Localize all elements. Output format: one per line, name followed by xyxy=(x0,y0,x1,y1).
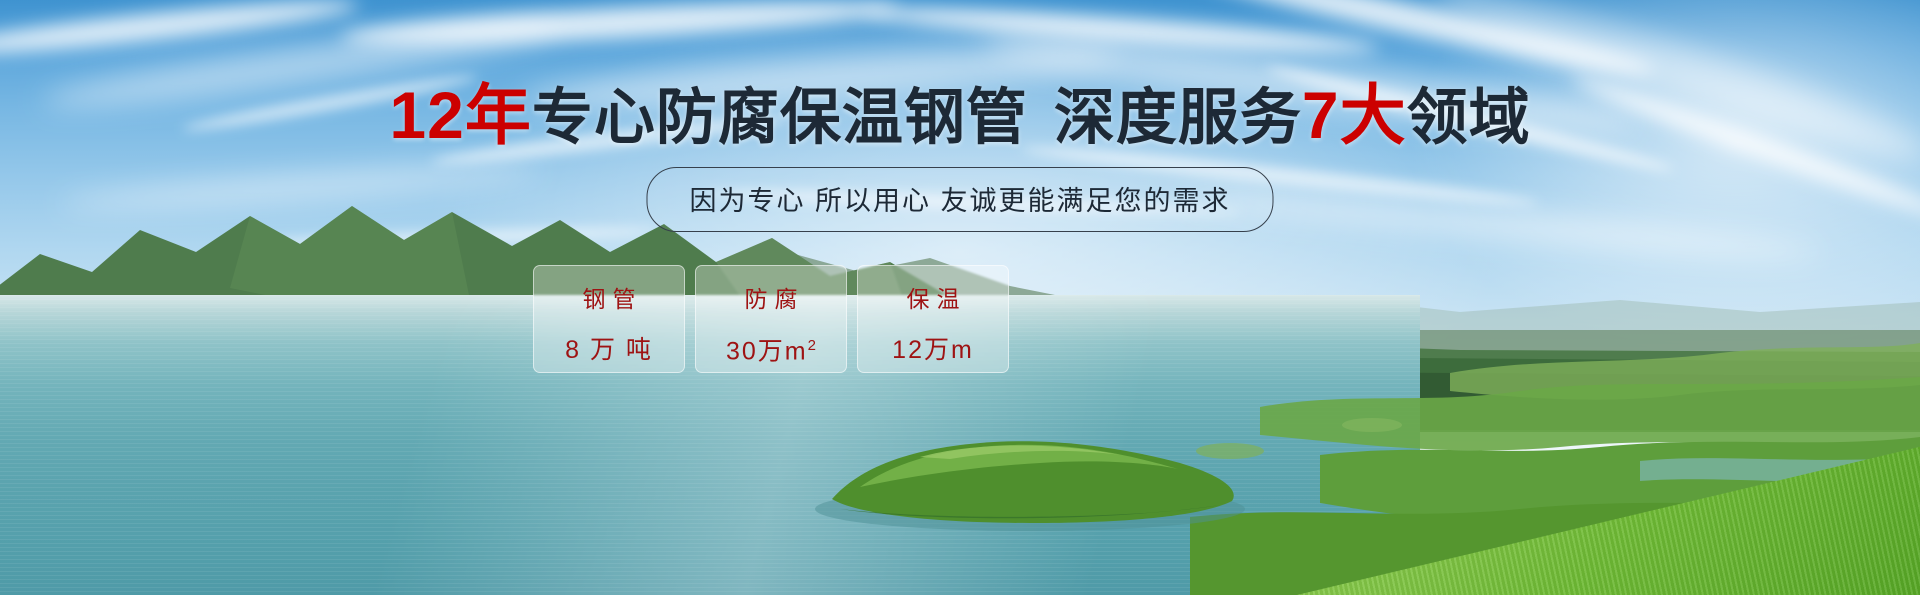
hero-banner: 12年专心防腐保温钢管深度服务7大领域 因为专心 所以用心 友诚更能满足您的需求… xyxy=(0,0,1920,595)
headline-fields-unit: 大 xyxy=(1340,78,1407,152)
banner-subtitle-text: 因为专心 所以用心 友诚更能满足您的需求 xyxy=(689,186,1230,216)
stat-card-anticorrosion[interactable]: 防腐 30万m2 xyxy=(695,265,847,373)
grass-island xyxy=(800,413,1260,533)
stat-card-value-superscript: 2 xyxy=(808,337,816,354)
stat-card-title: 钢管 xyxy=(576,288,643,311)
headline-fields: 领域 xyxy=(1407,83,1531,151)
stat-card-title: 保温 xyxy=(900,288,967,311)
headline-fields-number: 7 xyxy=(1302,78,1340,152)
stat-card-value: 12万m xyxy=(892,338,974,363)
banner-subtitle-pill: 因为专心 所以用心 友诚更能满足您的需求 xyxy=(646,167,1273,232)
headline-specialty: 专心防腐保温钢管 xyxy=(532,83,1028,151)
headline-years-unit: 年 xyxy=(465,78,532,152)
stat-card-group: 钢管 8 万 吨 防腐 30万m2 保温 12万m xyxy=(533,265,1009,373)
stat-card-value: 30万m2 xyxy=(726,338,816,364)
stat-card-insulation[interactable]: 保温 12万m xyxy=(857,265,1009,373)
stat-card-steel-pipe[interactable]: 钢管 8 万 吨 xyxy=(533,265,685,373)
stat-card-value: 8 万 吨 xyxy=(565,338,653,363)
headline-service: 深度服务 xyxy=(1054,83,1302,151)
headline-years-number: 12 xyxy=(389,78,464,152)
stat-card-title: 防腐 xyxy=(738,288,805,311)
banner-headline: 12年专心防腐保温钢管深度服务7大领域 xyxy=(0,82,1920,148)
